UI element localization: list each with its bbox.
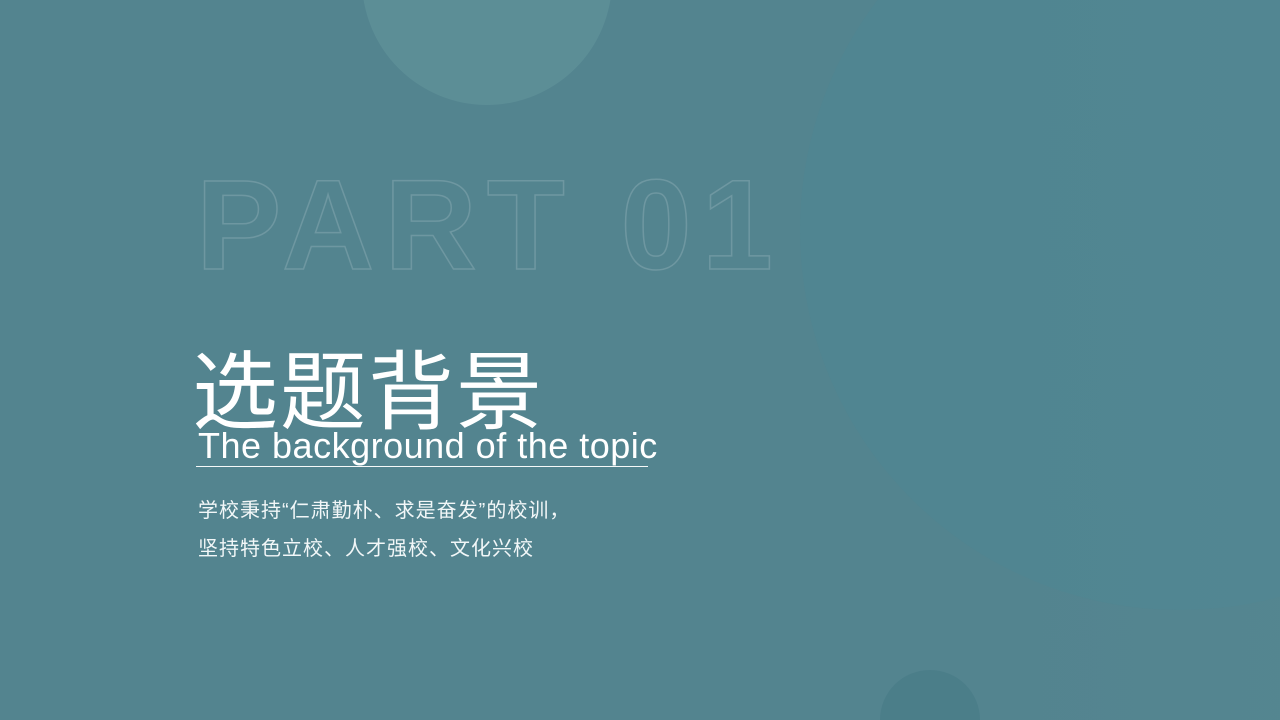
body-line-2: 坚持特色立校、人才强校、文化兴校 xyxy=(198,530,570,568)
page-subtitle-english: The background of the topic xyxy=(198,426,658,466)
body-line-1: 学校秉持“仁肃勤朴、求是奋发”的校训， xyxy=(198,492,570,530)
slide-body-text: 学校秉持“仁肃勤朴、求是奋发”的校训， 坚持特色立校、人才强校、文化兴校 xyxy=(198,492,570,568)
section-number-outline: PART 01 xyxy=(196,162,783,290)
title-divider xyxy=(196,466,648,467)
presentation-slide: PART 01 选题背景 The background of the topic… xyxy=(0,0,1280,720)
slide-content: PART 01 选题背景 The background of the topic… xyxy=(196,0,1096,720)
page-title-chinese: 选题背景 xyxy=(192,350,544,436)
